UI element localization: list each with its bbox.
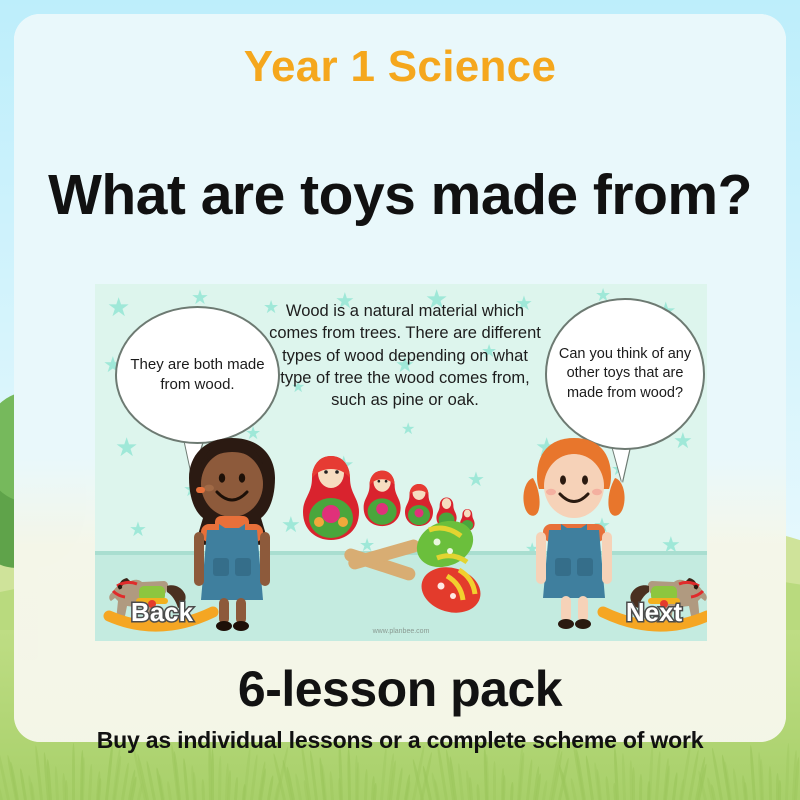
grass-blade — [309, 750, 318, 800]
grass-blade — [193, 772, 197, 800]
star-icon: ★ — [107, 294, 130, 320]
grass-blade — [167, 781, 173, 800]
grass-blade — [485, 754, 489, 800]
nav-next-label: Next — [595, 597, 707, 628]
grass-blade — [250, 754, 259, 800]
grass-blade — [502, 775, 506, 800]
grass-blade — [218, 756, 222, 800]
grass-blade — [457, 763, 464, 800]
grass-blade — [639, 774, 642, 800]
page-title: What are toys made from? — [0, 162, 800, 228]
grass-blade — [356, 762, 360, 800]
grass-blade — [733, 768, 740, 800]
star-icon: ★ — [129, 520, 147, 540]
grass-blade — [88, 764, 93, 800]
grass-blade — [19, 768, 27, 800]
grass-blade — [201, 779, 205, 800]
grass-blade — [30, 782, 35, 800]
grass-blade — [97, 778, 102, 800]
grass-blade — [632, 767, 635, 800]
maracas — [333, 518, 493, 614]
grass-blade — [211, 749, 214, 800]
grass-blade — [182, 758, 189, 800]
grass-blade — [510, 782, 514, 800]
star-icon: ★ — [115, 434, 138, 460]
grass-blade — [234, 777, 239, 800]
grass-blade — [778, 780, 781, 800]
lesson-slide-preview[interactable]: ★★★★★★★★★★★★★★★★★★★★★★★★★★★★★★★★★★ Wood … — [95, 284, 707, 641]
grass-blade — [605, 776, 610, 800]
grass-blade — [744, 782, 749, 800]
grass-blade — [621, 753, 626, 800]
speech-bubble-left: They are both made from wood. — [115, 306, 280, 444]
star-icon: ★ — [191, 288, 209, 308]
speech-bubble-right: Can you think of any other toys that are… — [545, 298, 705, 450]
grass-blade — [81, 757, 85, 800]
grass-blade — [760, 759, 764, 800]
pack-title: 6-lesson pack — [0, 660, 800, 718]
grass-blade — [259, 768, 267, 800]
grass-blade — [584, 755, 593, 800]
grass-blade — [329, 771, 334, 800]
grass-blade — [267, 775, 274, 800]
pack-subtitle: Buy as individual lessons or a complete … — [0, 727, 800, 754]
grass-blade — [373, 783, 377, 800]
grass-blade — [364, 769, 368, 800]
grass-blade — [347, 748, 351, 800]
slide-main-text: Wood is a natural material which comes f… — [265, 300, 545, 411]
nav-back-label: Back — [103, 597, 221, 628]
grass-blade — [64, 780, 67, 800]
star-icon: ★ — [401, 422, 415, 438]
grass-blade — [54, 766, 59, 800]
grass-blade — [672, 772, 678, 800]
grass-blade — [0, 748, 10, 800]
grass-blade — [476, 784, 480, 800]
grass-blade — [542, 780, 548, 800]
grass-blade — [526, 759, 533, 800]
grass-blade — [468, 777, 473, 800]
grass-blade — [380, 746, 388, 800]
watermark: www.planbee.com — [95, 628, 707, 635]
subject-eyebrow: Year 1 Science — [0, 42, 800, 92]
grass-blade — [158, 774, 165, 800]
grass-blade — [396, 767, 404, 800]
nav-back-button[interactable]: Back — [103, 560, 221, 634]
grass-blade — [0, 784, 3, 800]
promo-card: Year 1 Science What are toys made from? … — [0, 0, 800, 800]
grass-blade — [768, 766, 772, 800]
grass-blade — [493, 761, 496, 800]
grass-blade — [655, 751, 661, 800]
star-icon: ★ — [673, 430, 693, 452]
nav-next-button[interactable]: Next — [595, 560, 707, 634]
grass-blade — [570, 778, 577, 800]
grass-blade — [294, 773, 302, 800]
